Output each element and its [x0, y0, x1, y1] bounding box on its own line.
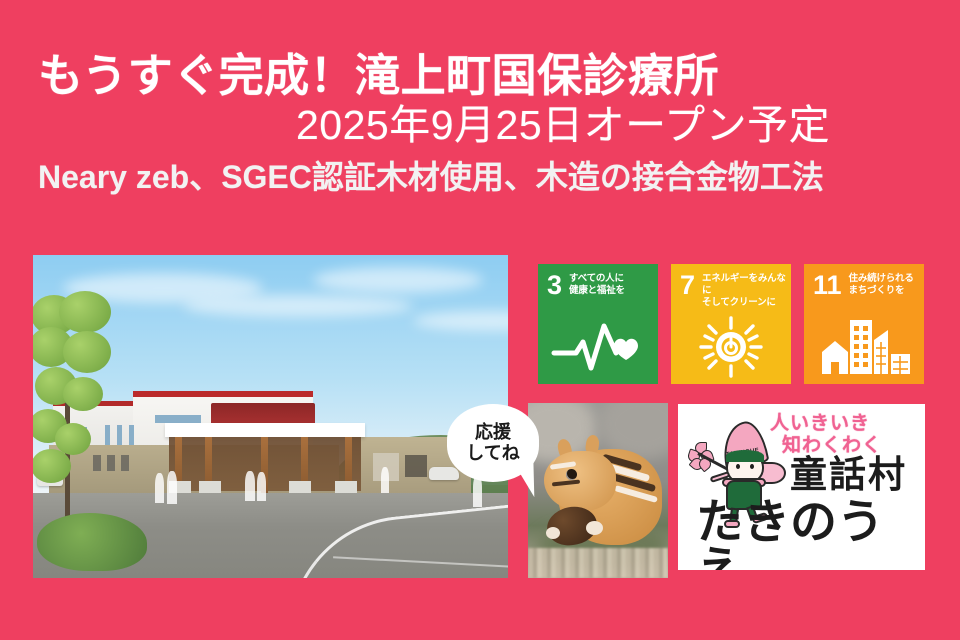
window-strip — [155, 415, 201, 423]
logo-tagline: 人いきいき 知わくわく — [770, 413, 882, 458]
chipmunk-eye — [566, 469, 577, 480]
city-buildings-icon — [804, 316, 924, 378]
window-strip — [129, 425, 134, 447]
headline-line-1: もうすぐ完成！滝上町国保診療所 — [0, 52, 960, 100]
sdg-goal-text: エネルギーをみんなに そしてクリーンに — [702, 273, 791, 309]
window-strip — [121, 455, 129, 471]
poster-canvas: もうすぐ完成！滝上町国保診療所 2025年9月25日オープン予定 Neary z… — [0, 0, 960, 640]
chipmunk-paw — [586, 521, 603, 535]
tree-foliage — [63, 377, 103, 411]
foreground-tree — [33, 291, 121, 501]
logo-tagline-line-1: 人いきいき — [770, 413, 870, 434]
sdg-number: 11 — [813, 273, 842, 297]
sdg-number: 7 — [680, 273, 695, 297]
heartbeat-heart-icon — [538, 316, 658, 378]
sdg-badge-header: 7 エネルギーをみんなに そしてクリーンに — [671, 264, 791, 309]
gravel-ground — [528, 548, 668, 578]
chipmunk-photo — [528, 403, 668, 578]
sdg-goal-text: 住み続けられる まちづくりを — [849, 273, 914, 297]
figure-person — [245, 471, 255, 501]
sdg-badge-11[interactable]: 11 住み続けられる まちづくりを — [804, 264, 924, 384]
headline-block: もうすぐ完成！滝上町国保診療所 2025年9月25日オープン予定 Neary z… — [0, 52, 960, 199]
sdg-badge-7[interactable]: 7 エネルギーをみんなに そしてクリーンに — [671, 264, 791, 384]
entrance-canopy — [165, 423, 365, 437]
figure-person — [257, 472, 266, 501]
takinoue-town-logo: TAKINOUE 人いきいき 知わくわく 童話村 たきのうえ — [678, 404, 925, 570]
logo-kanji-text: 童話村 — [790, 456, 907, 493]
headline-line-3: Neary zeb、SGEC認証木材使用、木造の接合金物工法 — [0, 157, 960, 199]
parked-car — [429, 467, 459, 480]
sdg-badge-3[interactable]: 3 すべての人に 健康と福祉を — [538, 264, 658, 384]
chipmunk-paw — [546, 527, 560, 539]
figure-person — [381, 467, 389, 493]
mascot-hair — [726, 450, 764, 462]
figure-person — [155, 473, 164, 503]
mascot-eye — [750, 464, 754, 469]
chipmunk-head — [544, 451, 616, 511]
cloud-shape — [313, 267, 483, 293]
speech-bubble-text: 応援 してね — [466, 422, 519, 463]
tree-foliage — [63, 331, 111, 373]
sdg-number: 3 — [547, 273, 562, 297]
cloud-shape — [183, 295, 413, 317]
speech-bubble: 応援 してね — [447, 404, 539, 482]
window-strip — [405, 455, 427, 477]
clinic-rendering-photo — [33, 255, 508, 578]
cloud-shape — [413, 311, 508, 331]
entrance-roof — [211, 403, 315, 425]
tree-foliage — [59, 291, 111, 333]
foreground-bush — [37, 513, 147, 571]
sdg-goal-text: すべての人に 健康と福祉を — [569, 273, 625, 297]
mascot-eye — [736, 464, 740, 469]
headline-line-2: 2025年9月25日オープン予定 — [0, 100, 960, 151]
sdg-badge-row: 3 すべての人に 健康と福祉を 7 エネルギーをみんなに そしてクリーンに — [538, 264, 924, 384]
sdg-badge-header: 11 住み続けられる まちづくりを — [804, 264, 924, 297]
logo-kana-text: たきのうえ — [696, 498, 925, 570]
sdg-badge-header: 3 すべての人に 健康と福祉を — [538, 264, 658, 297]
sun-power-icon — [671, 316, 791, 378]
figure-person — [167, 471, 177, 504]
